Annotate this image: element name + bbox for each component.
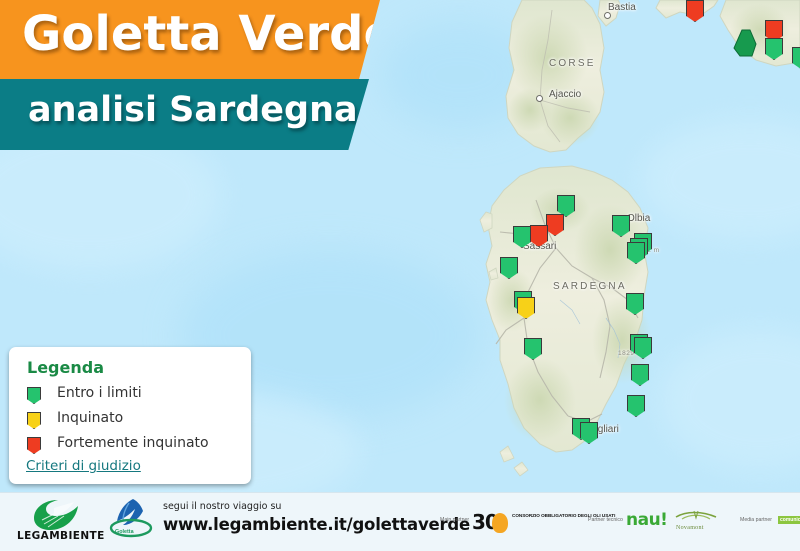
map-marker-green[interactable] <box>524 338 542 360</box>
shield-marker-icon <box>27 387 41 404</box>
map-marker-green[interactable] <box>627 395 645 417</box>
shield-marker-icon <box>530 225 548 247</box>
header-banner-secondary: analisi Sardegna <box>0 79 369 150</box>
legambiente-logo[interactable] <box>24 498 88 532</box>
shield-marker-icon <box>27 412 41 429</box>
sponsor-label-tecnico: Partner tecnico <box>588 517 623 523</box>
shield-marker-icon <box>612 215 630 237</box>
goletta-verde-logo[interactable]: Goletta <box>103 497 159 539</box>
shield-marker-icon <box>765 38 783 60</box>
map-marker-red[interactable] <box>546 214 564 236</box>
legend-panel: Legenda Entro i limitiInquinatoFortement… <box>9 347 251 484</box>
map-marker-green[interactable] <box>634 337 652 359</box>
map-marker-green[interactable] <box>792 47 800 69</box>
shield-marker-icon <box>627 242 645 264</box>
shield-marker-icon <box>626 293 644 315</box>
map-marker-green[interactable] <box>631 364 649 386</box>
shield-marker-icon <box>546 214 564 236</box>
shield-marker-icon <box>517 297 535 319</box>
map-marker-green[interactable] <box>513 226 531 248</box>
shield-marker-icon <box>500 257 518 279</box>
legend-marker-icon-yellow <box>27 412 41 429</box>
legend-marker-icon-green <box>27 387 41 404</box>
svg-text:Goletta: Goletta <box>115 529 135 535</box>
footer-caption: segui il nostro viaggio su <box>163 501 281 512</box>
footer-bar: LEGAMBIENTE Goletta segui il nostro viag… <box>0 492 800 551</box>
shield-marker-icon <box>634 337 652 359</box>
sponsor-comunicare: comunicare <box>778 516 800 524</box>
map-marker-green[interactable] <box>626 293 644 315</box>
sponsor-label-main: Main partner <box>440 517 469 523</box>
legambiente-wordmark: LEGAMBIENTE <box>17 530 105 542</box>
map-marker-green[interactable] <box>500 257 518 279</box>
flame-icon <box>492 513 508 533</box>
map-marker-green[interactable] <box>580 422 598 444</box>
city-dot-ajaccio <box>536 95 543 102</box>
sponsor-nau: nau! <box>626 510 667 530</box>
page-title: Goletta Verde <box>22 6 380 62</box>
page-subtitle: analisi Sardegna <box>28 90 358 130</box>
shield-marker-icon <box>627 395 645 417</box>
shield-marker-icon <box>686 0 704 22</box>
shield-marker-icon <box>524 338 542 360</box>
map-marker-green[interactable] <box>612 215 630 237</box>
shield-marker-icon <box>580 422 598 444</box>
sponsor-novamont: Novamont <box>676 525 704 531</box>
shield-marker-icon <box>792 47 800 69</box>
goletta-verde-map-page: BastiaCORSEAjaccioOlbiaSassariSARDEGNACa… <box>0 0 800 551</box>
footer-url[interactable]: www.legambiente.it/golettaverde <box>163 515 470 534</box>
map-marker-green[interactable] <box>627 242 645 264</box>
criteria-link[interactable]: Criteri di giudizio <box>26 458 141 474</box>
sailboat-icon: Goletta <box>103 497 159 539</box>
swan-icon <box>24 498 88 532</box>
legend-item-label: Entro i limiti <box>57 385 142 401</box>
legend-marker-icon-red <box>27 437 41 454</box>
map-marker-red[interactable] <box>530 225 548 247</box>
shield-marker-icon <box>513 226 531 248</box>
sponsor-label-media: Media partner <box>740 517 772 523</box>
shield-marker-icon <box>631 364 649 386</box>
header-banner-primary: Goletta Verde <box>0 0 380 79</box>
shield-marker-icon <box>27 437 41 454</box>
legend-item-label: Inquinato <box>57 410 123 426</box>
map-marker-green[interactable] <box>765 38 783 60</box>
legend-title: Legenda <box>27 358 104 377</box>
city-dot-bastia <box>604 12 611 19</box>
map-marker-yellow[interactable] <box>517 297 535 319</box>
map-marker-red[interactable] <box>686 0 704 22</box>
legend-item-label: Fortemente inquinato <box>57 435 209 451</box>
sponsor-strip: Main partner 30 CONSORZIO OBBLIGATORIO D… <box>440 505 790 539</box>
